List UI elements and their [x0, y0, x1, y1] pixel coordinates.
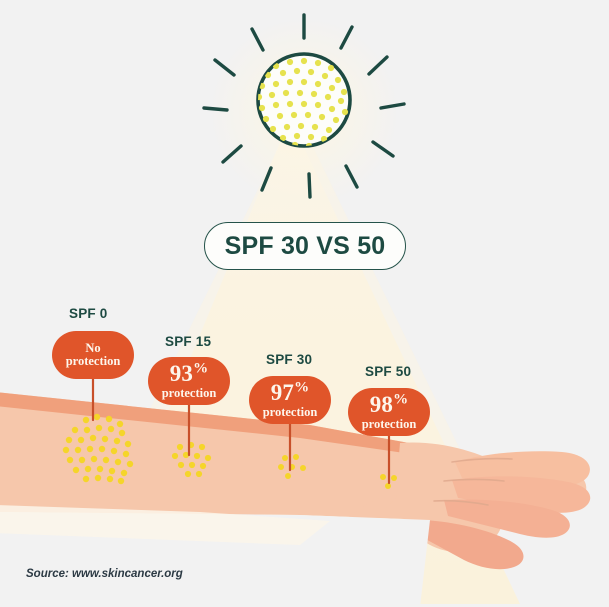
- badge-line-2-spf0: protection: [66, 355, 121, 368]
- spf-label-spf30: SPF 30: [266, 352, 312, 367]
- protection-badge-spf15: 93% protection: [148, 357, 230, 405]
- badge-percent-spf50: 98%: [370, 393, 409, 417]
- protection-badge-spf30: 97% protection: [249, 376, 331, 424]
- spf-label-spf15: SPF 15: [165, 334, 211, 349]
- source-attribution: Source: www.skincancer.org: [26, 568, 183, 580]
- badge-sublabel-spf15: protection: [162, 387, 217, 400]
- spf-label-spf0: SPF 0: [69, 306, 108, 321]
- protection-badge-spf0: No protection: [52, 331, 134, 379]
- spf-infographic: SPF 30 VS 50 SPF 0 No protection SPF 15 …: [0, 0, 609, 607]
- infographic-artwork: [0, 0, 609, 607]
- badge-percent-spf30: 97%: [271, 381, 310, 405]
- title-badge: SPF 30 VS 50: [204, 222, 406, 270]
- badge-percent-spf15: 93%: [170, 362, 209, 386]
- spf-label-spf50: SPF 50: [365, 364, 411, 379]
- badge-sublabel-spf50: protection: [362, 418, 417, 431]
- page-title: SPF 30 VS 50: [225, 232, 386, 261]
- badge-sublabel-spf30: protection: [263, 406, 318, 419]
- protection-badge-spf50: 98% protection: [348, 388, 430, 436]
